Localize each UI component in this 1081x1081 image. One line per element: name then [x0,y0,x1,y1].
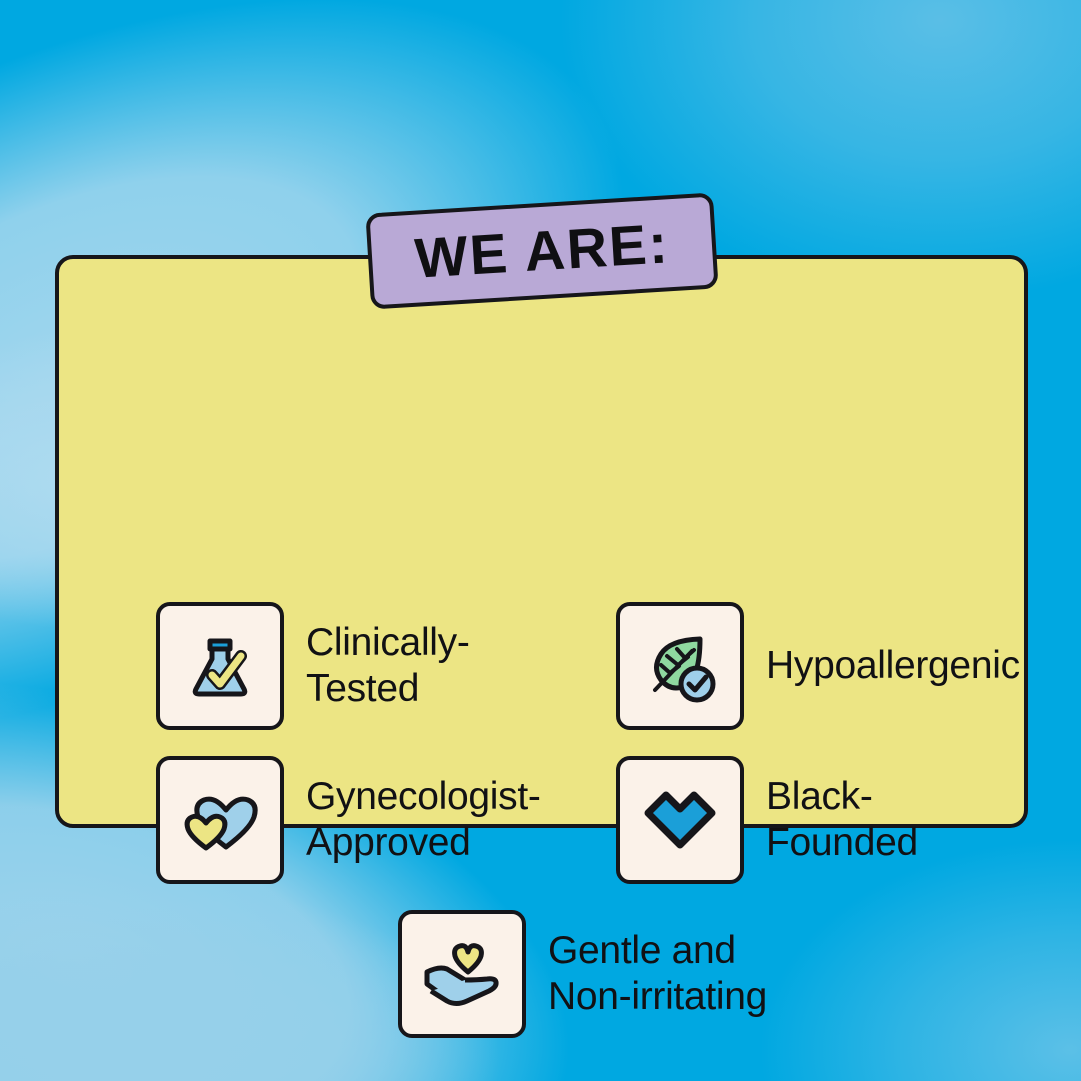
feature-item-clinically-tested: Clinically- Tested [156,602,470,730]
feature-item-gentle-non-irritating: Gentle and Non-irritating [398,910,767,1038]
infographic-canvas: Clinically- Tested [0,0,1081,1081]
icon-tile [156,756,284,884]
feature-label: Hypoallergenic [766,643,1020,689]
icon-tile [616,602,744,730]
feature-item-hypoallergenic: Hypoallergenic [616,602,1020,730]
badge-title: WE ARE: [413,215,671,286]
hand-heart-icon [421,938,503,1010]
feature-item-black-founded: Black-Founded [616,756,1024,884]
feature-label: Clinically- Tested [306,620,470,711]
flask-check-icon [181,627,259,705]
icon-tile [156,602,284,730]
feature-label: Black-Founded [766,774,1024,865]
angular-heart-icon [642,787,718,853]
icon-tile [616,756,744,884]
feature-label: Gynecologist- Approved [306,774,541,865]
two-hearts-icon [180,785,260,855]
icon-tile [398,910,526,1038]
leaf-check-icon [640,626,720,706]
feature-item-gynecologist-approved: Gynecologist- Approved [156,756,541,884]
features-panel: Clinically- Tested [55,255,1028,828]
feature-label: Gentle and Non-irritating [548,928,767,1019]
